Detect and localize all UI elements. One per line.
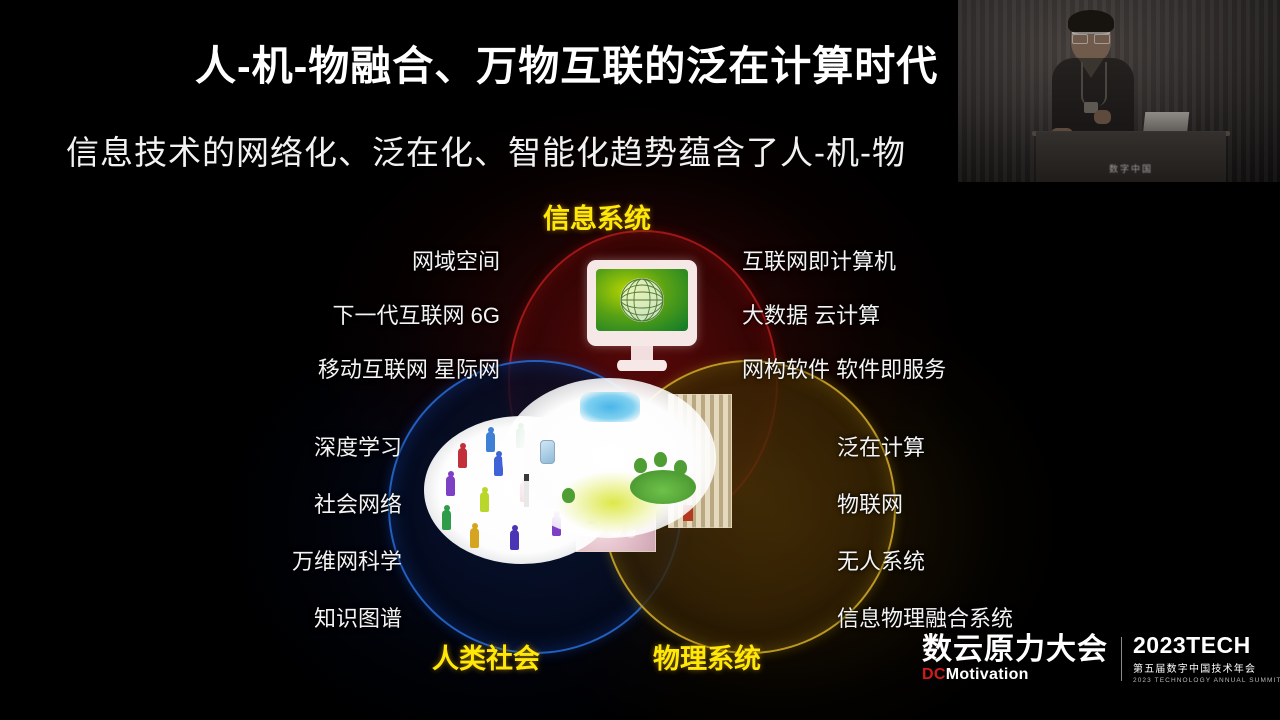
person-figure xyxy=(442,510,451,530)
annotation-group-top-left: 网域空间 下一代互联网 6G 移动互联网 星际网 xyxy=(232,244,500,406)
logo-event-en: 2023 TECHNOLOGY ANNUAL SUMMIT xyxy=(1133,677,1280,684)
annotation-item: 社会网络 xyxy=(212,487,402,519)
podium-text: 数字中国 xyxy=(1036,162,1226,175)
logo-event-cn: 第五届数字中国技术年会 xyxy=(1133,660,1280,675)
annotation-item: 深度学习 xyxy=(212,430,402,462)
annotation-item: 物联网 xyxy=(837,487,1013,519)
annotation-item: 万维网科学 xyxy=(212,544,402,576)
annotation-item: 无人系统 xyxy=(837,544,1013,576)
page-subtitle: 信息技术的网络化、泛在化、智能化趋势蕴含了人-机-物 xyxy=(66,126,906,174)
venn-label-human-society: 人类社会 xyxy=(432,637,540,676)
conference-logo: 数云原力大会 DCMotivation 2023TECH 第五届数字中国技术年会… xyxy=(922,629,1280,689)
mobile-phone-icon xyxy=(540,440,555,464)
speaker-hair xyxy=(1068,10,1114,34)
globe-icon xyxy=(620,278,664,322)
annotation-item: 网域空间 xyxy=(232,244,500,276)
speaker-figure xyxy=(1050,10,1136,150)
logo-brand-en-prefix: DC xyxy=(922,666,946,683)
speaker-video-overlay[interactable]: 数字中国 xyxy=(958,0,1280,182)
tree-icon xyxy=(634,458,647,473)
annotation-item: 大数据 云计算 xyxy=(742,298,946,330)
venn-label-physical-system: 物理系统 xyxy=(653,637,761,676)
annotation-item: 互联网即计算机 xyxy=(742,244,946,276)
annotation-group-bottom-right: 泛在计算 物联网 无人系统 信息物理融合系统 xyxy=(837,430,1013,658)
annotation-item: 知识图谱 xyxy=(212,601,402,633)
person-figure xyxy=(510,530,519,550)
logo-year-tech: 2023TECH xyxy=(1133,634,1280,657)
logo-brand-en: DCMotivation xyxy=(922,666,1108,684)
monitor-screen xyxy=(596,269,688,331)
lanyard-icon xyxy=(1081,62,1107,106)
logo-brand-cn: 数云原力大会 xyxy=(922,634,1108,666)
annotation-item: 泛在计算 xyxy=(837,430,1013,462)
annotation-group-top-right: 互联网即计算机 大数据 云计算 网构软件 软件即服务 xyxy=(742,244,946,406)
page-title: 人-机-物融合、万物互联的泛在计算时代 xyxy=(195,32,938,92)
annotation-group-bottom-left: 深度学习 社会网络 万维网科学 知识图谱 xyxy=(212,430,402,658)
tree-icon xyxy=(654,452,667,467)
globe-grid-lines xyxy=(620,278,664,322)
speaker-hand-right xyxy=(1094,110,1111,124)
blue-city-shape xyxy=(580,392,640,422)
logo-brand-en-suffix: Motivation xyxy=(946,666,1029,683)
presentation-slide-screen: 人-机-物融合、万物互联的泛在计算时代 信息技术的网络化、泛在化、智能化趋势蕴含… xyxy=(0,0,1280,720)
monitor-bezel xyxy=(587,260,697,346)
person-figure xyxy=(480,492,489,512)
tree-icon xyxy=(562,488,575,503)
person-figure xyxy=(458,448,467,468)
convergence-illustration xyxy=(502,378,716,538)
person-figure xyxy=(486,432,495,452)
green-island-shape xyxy=(630,470,696,504)
person-figure xyxy=(446,476,455,496)
annotation-item: 网构软件 软件即服务 xyxy=(742,352,946,384)
tree-icon xyxy=(674,460,687,475)
monitor-stand-base xyxy=(617,360,667,371)
venn-label-information-system: 信息系统 xyxy=(543,197,651,236)
podium: 数字中国 xyxy=(1036,131,1226,182)
annotation-item: 移动互联网 星际网 xyxy=(232,352,500,384)
eyeglasses-icon xyxy=(1072,32,1110,42)
logo-brand-block: 数云原力大会 DCMotivation xyxy=(922,634,1121,683)
logo-event-block: 2023TECH 第五届数字中国技术年会 2023 TECHNOLOGY ANN… xyxy=(1133,634,1280,684)
logo-divider xyxy=(1121,637,1122,681)
annotation-item: 下一代互联网 6G xyxy=(232,298,500,330)
street-lamp-icon xyxy=(524,474,529,507)
person-figure xyxy=(470,528,479,548)
computer-monitor-icon xyxy=(587,260,697,372)
